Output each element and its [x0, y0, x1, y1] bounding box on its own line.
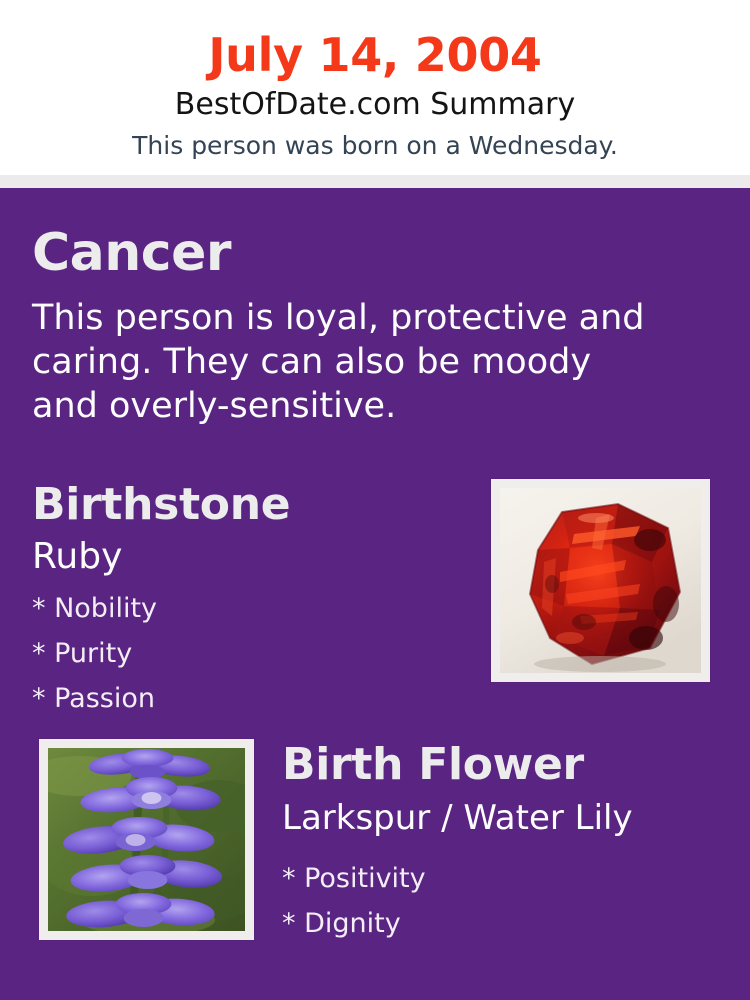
birth-flower-name: Larkspur / Water Lily	[282, 797, 633, 839]
born-weekday-text: This person was born on a Wednesday.	[0, 130, 750, 162]
site-summary-label: BestOfDate.com Summary	[0, 87, 750, 123]
page-title-date: July 14, 2004	[0, 29, 750, 81]
birth-flower-trait: * Dignity	[282, 901, 702, 946]
birthstone-trait-list: * Nobility * Purity * Passion	[32, 586, 452, 721]
ruby-gemstone-icon	[500, 488, 701, 673]
bestofdate-summary-card: July 14, 2004 BestOfDate.com Summary Thi…	[0, 0, 750, 1000]
birthstone-image-frame	[491, 479, 710, 682]
birth-flower-trait: * Positivity	[282, 856, 702, 901]
birth-flower-trait-list: * Positivity * Dignity	[282, 856, 702, 946]
page-header: July 14, 2004 BestOfDate.com Summary Thi…	[0, 0, 750, 175]
birthstone-trait: * Purity	[32, 631, 452, 676]
header-divider	[0, 175, 750, 188]
birthstone-trait: * Nobility	[32, 586, 452, 631]
zodiac-sign-heading: Cancer	[32, 222, 231, 284]
larkspur-water-lily-icon	[48, 748, 245, 931]
birth-flower-heading: Birth Flower	[282, 738, 584, 792]
birthstone-heading: Birthstone	[32, 478, 290, 532]
zodiac-description: This person is loyal, protective and car…	[32, 296, 652, 428]
birthstone-trait: * Passion	[32, 676, 452, 721]
larkspur-icon	[48, 748, 245, 931]
birthstone-name: Ruby	[32, 535, 122, 579]
birth-flower-image-frame	[39, 739, 254, 940]
